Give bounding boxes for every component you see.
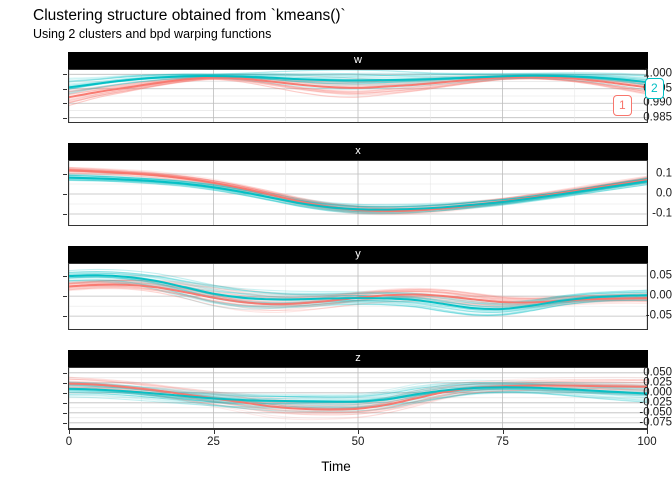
plot-panel-x bbox=[68, 160, 648, 226]
y-tick-label: 0.000 bbox=[643, 387, 672, 399]
panel-canvas-w bbox=[69, 70, 647, 122]
y-tick-mark bbox=[63, 393, 67, 394]
facet-strip-label-y: y bbox=[68, 246, 648, 263]
x-tick-label: 75 bbox=[496, 436, 509, 448]
y-tick-mark bbox=[63, 296, 67, 297]
y-tick-label: -0.05 bbox=[646, 310, 672, 322]
x-tick-mark bbox=[358, 430, 359, 434]
y-tick-mark bbox=[63, 194, 67, 195]
chart-root: Clustering structure obtained from `kmea… bbox=[0, 0, 672, 480]
x-tick-label: 100 bbox=[637, 436, 656, 448]
x-tick-label: 50 bbox=[352, 436, 365, 448]
y-tick-mark bbox=[63, 118, 67, 119]
y-tick-label: 0.00 bbox=[650, 290, 672, 302]
plot-subtitle: Using 2 clusters and bpd warping functio… bbox=[33, 27, 271, 42]
y-tick-mark bbox=[63, 174, 67, 175]
x-tick-label: 0 bbox=[66, 436, 72, 448]
x-axis-title: Time bbox=[0, 459, 672, 474]
page-title: Clustering structure obtained from `kmea… bbox=[33, 7, 346, 24]
y-tick-label: 0.0 bbox=[656, 188, 672, 200]
y-tick-mark bbox=[63, 103, 67, 104]
y-tick-label: -0.050 bbox=[639, 407, 672, 419]
x-tick-label: 25 bbox=[207, 436, 220, 448]
facet-strip-label-x: x bbox=[68, 143, 648, 160]
y-tick-mark bbox=[63, 423, 67, 424]
x-tick-mark bbox=[214, 430, 215, 434]
panel-canvas-z bbox=[69, 368, 647, 428]
facet-strip-label-z: z bbox=[68, 350, 648, 367]
panel-canvas-y bbox=[69, 264, 647, 329]
facet-strip-label-w: w bbox=[68, 52, 648, 69]
x-tick-mark bbox=[69, 430, 70, 434]
y-tick-mark bbox=[63, 403, 67, 404]
cluster-label-1[interactable]: 1 bbox=[613, 95, 632, 116]
y-tick-mark bbox=[63, 383, 67, 384]
y-tick-label: -0.1 bbox=[652, 208, 672, 220]
y-tick-label: 0.050 bbox=[643, 367, 672, 379]
y-tick-mark bbox=[63, 276, 67, 277]
y-tick-label: -0.025 bbox=[639, 397, 672, 409]
y-tick-mark bbox=[63, 214, 67, 215]
y-tick-mark bbox=[63, 373, 67, 374]
y-tick-label: 0.025 bbox=[643, 377, 672, 389]
y-tick-mark bbox=[63, 89, 67, 90]
y-tick-label: 0.985 bbox=[643, 112, 672, 124]
y-tick-label: 0.1 bbox=[656, 168, 672, 180]
y-tick-label: 0.990 bbox=[643, 97, 672, 109]
y-tick-mark bbox=[63, 316, 67, 317]
y-tick-label: -0.075 bbox=[639, 417, 672, 429]
x-tick-mark bbox=[647, 430, 648, 434]
y-tick-label: 0.05 bbox=[650, 270, 672, 282]
panel-canvas-x bbox=[69, 161, 647, 225]
cluster-label-2[interactable]: 2 bbox=[645, 78, 664, 99]
y-tick-mark bbox=[63, 74, 67, 75]
plot-panel-z bbox=[68, 367, 648, 429]
y-tick-mark bbox=[63, 413, 67, 414]
x-tick-mark bbox=[503, 430, 504, 434]
plot-panel-y bbox=[68, 263, 648, 330]
plot-panel-w bbox=[68, 69, 648, 123]
